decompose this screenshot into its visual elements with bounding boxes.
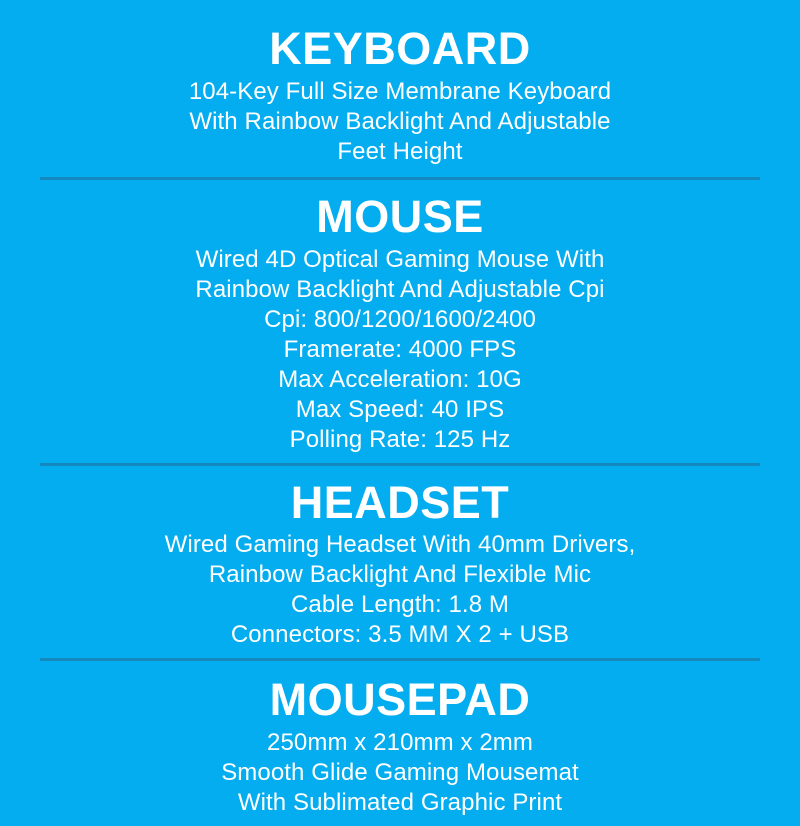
spec-section-keyboard: KEYBOARD 104-Key Full Size Membrane Keyb… xyxy=(0,0,800,177)
section-title-mousepad: MOUSEPAD xyxy=(270,677,531,724)
spec-line: Connectors: 3.5 MM X 2 + USB xyxy=(40,620,760,650)
spec-line: Feet Height xyxy=(40,137,760,167)
spec-line-list-keyboard: 104-Key Full Size Membrane Keyboard With… xyxy=(40,77,760,167)
spec-line: Framerate: 4000 FPS xyxy=(40,335,760,365)
spec-section-headset: HEADSET Wired Gaming Headset With 40mm D… xyxy=(0,466,800,659)
spec-section-mousepad: MOUSEPAD 250mm x 210mm x 2mm Smooth Glid… xyxy=(0,661,800,826)
spec-line: Smooth Glide Gaming Mousemat xyxy=(40,758,760,788)
spec-line: Wired 4D Optical Gaming Mouse With xyxy=(40,245,760,275)
spec-line: Polling Rate: 125 Hz xyxy=(40,425,760,455)
section-title-keyboard: KEYBOARD xyxy=(269,26,531,73)
spec-section-mouse: MOUSE Wired 4D Optical Gaming Mouse With… xyxy=(0,180,800,463)
spec-line-list-mousepad: 250mm x 210mm x 2mm Smooth Glide Gaming … xyxy=(40,728,760,818)
spec-line: Max Speed: 40 IPS xyxy=(40,395,760,425)
spec-sheet: KEYBOARD 104-Key Full Size Membrane Keyb… xyxy=(0,0,800,800)
spec-line: 250mm x 210mm x 2mm xyxy=(40,728,760,758)
spec-line: 104-Key Full Size Membrane Keyboard xyxy=(40,77,760,107)
spec-line: Wired Gaming Headset With 40mm Drivers, xyxy=(40,530,760,560)
spec-line: Rainbow Backlight And Adjustable Cpi xyxy=(40,275,760,305)
spec-line: Rainbow Backlight And Flexible Mic xyxy=(40,560,760,590)
spec-line-list-headset: Wired Gaming Headset With 40mm Drivers, … xyxy=(40,530,760,650)
spec-line-list-mouse: Wired 4D Optical Gaming Mouse With Rainb… xyxy=(40,245,760,455)
section-title-headset: HEADSET xyxy=(291,480,510,527)
spec-line: Cpi: 800/1200/1600/2400 xyxy=(40,305,760,335)
spec-line: Max Acceleration: 10G xyxy=(40,365,760,395)
spec-line: With Rainbow Backlight And Adjustable xyxy=(40,107,760,137)
section-title-mouse: MOUSE xyxy=(316,194,484,241)
spec-line: With Sublimated Graphic Print xyxy=(40,788,760,818)
spec-line: Cable Length: 1.8 M xyxy=(40,590,760,620)
